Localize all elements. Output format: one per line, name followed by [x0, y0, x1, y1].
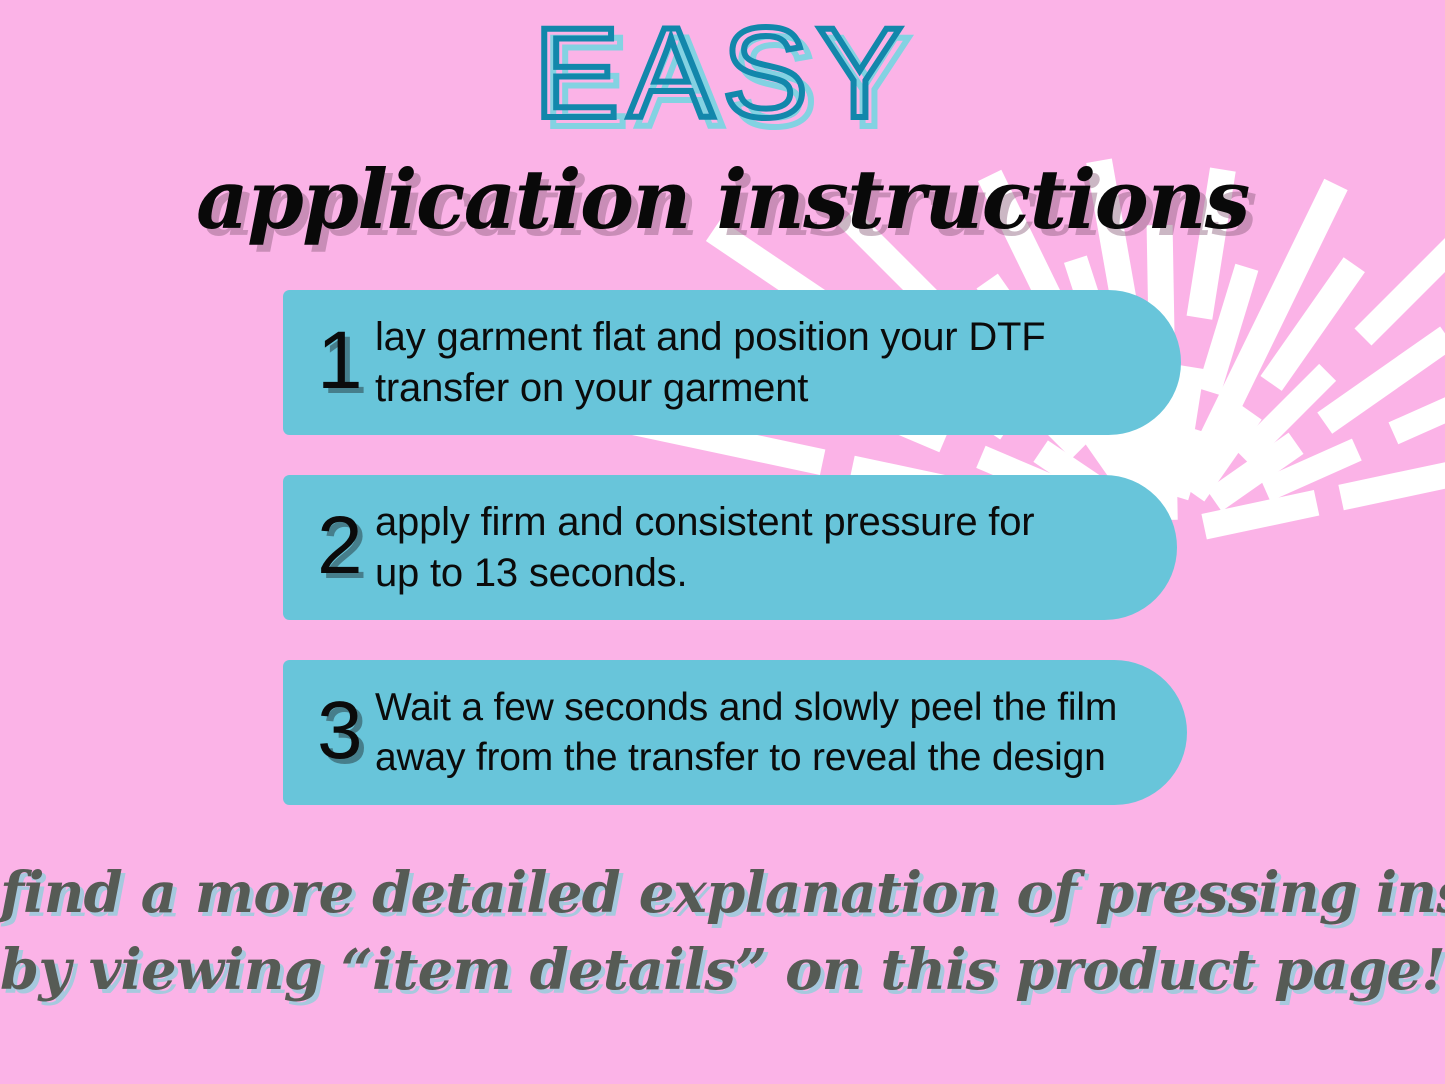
step-pill-2: 2 apply firm and consistent pressure for… [283, 475, 1177, 620]
script-heading: application instructions [196, 158, 1249, 243]
poster-canvas: EASY EASY application instructions 1 lay… [0, 0, 1445, 1084]
script-heading-container: application instructions [0, 158, 1445, 243]
step-text-1: lay garment flat and position your DTF t… [375, 312, 1151, 414]
step-pill-1: 1 lay garment flat and position your DTF… [283, 290, 1181, 435]
step-pill-3: 3 Wait a few seconds and slowly peel the… [283, 660, 1187, 805]
steps-list: 1 lay garment flat and position your DTF… [283, 290, 1187, 805]
footer-container: find a more detailed explanation of pres… [0, 855, 1445, 1010]
headline-container: EASY EASY [0, 10, 1445, 138]
step-number-2: 2 [317, 507, 375, 585]
step-number-3: 3 [317, 692, 375, 770]
step-text-3: Wait a few seconds and slowly peel the f… [375, 683, 1157, 782]
headline-easy: EASY EASY [534, 10, 912, 138]
footer-line-2: by viewing “item details” on this produc… [0, 932, 1445, 1009]
step-text-1-line1: lay garment flat and position your DTF [375, 312, 1151, 363]
step-text-1-line2: transfer on your garment [375, 363, 1151, 414]
step-text-2-line2: up to 13 seconds. [375, 548, 1147, 599]
step-text-2-line1: apply firm and consistent pressure for [375, 497, 1147, 548]
step-text-3-line1: Wait a few seconds and slowly peel the f… [375, 683, 1157, 733]
step-number-1: 1 [317, 322, 375, 400]
headline-easy-text: EASY [534, 2, 912, 145]
step-text-2: apply firm and consistent pressure for u… [375, 497, 1147, 599]
step-text-3-line2: away from the transfer to reveal the des… [375, 733, 1157, 783]
footer-line-1: find a more detailed explanation of pres… [0, 855, 1445, 932]
